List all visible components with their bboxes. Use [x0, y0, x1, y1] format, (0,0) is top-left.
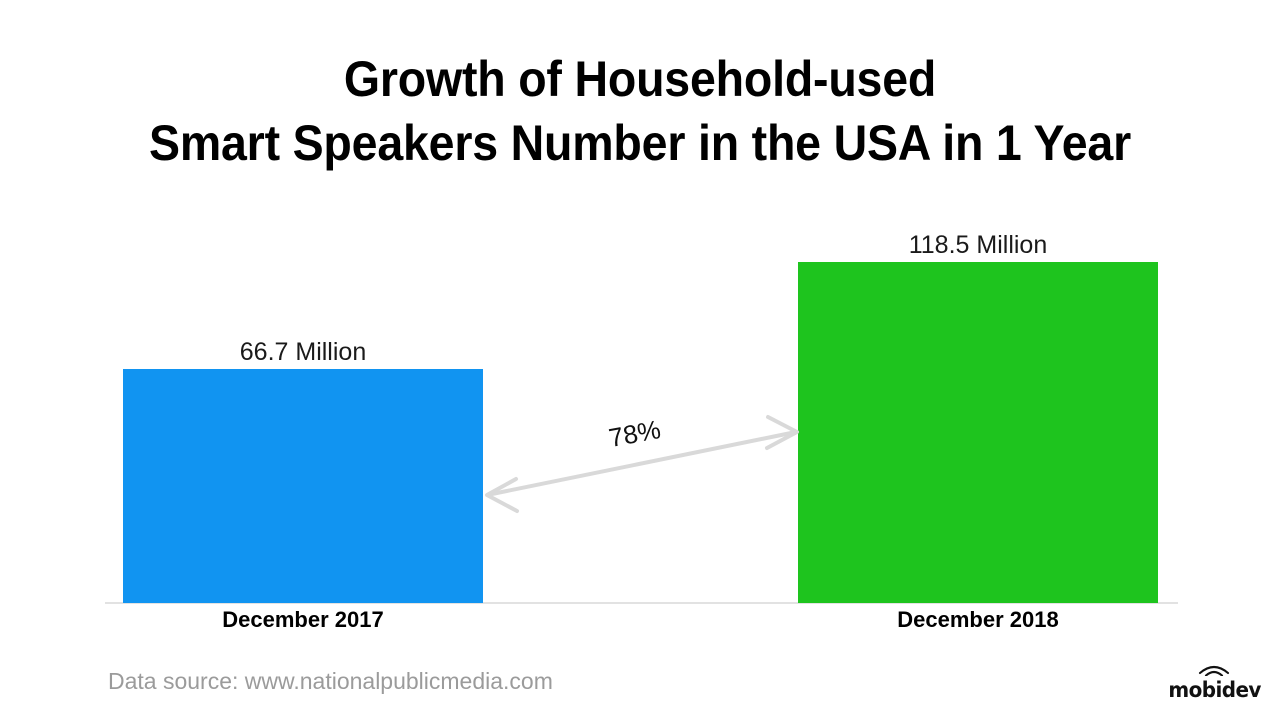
growth-percentage-label: 78%	[606, 414, 663, 454]
bar-december-2017[interactable]	[123, 369, 483, 603]
bar-december-2018[interactable]	[798, 262, 1158, 603]
mobidev-logo: mobidev	[1166, 662, 1262, 704]
data-source-caption: Data source: www.nationalpublicmedia.com	[108, 668, 553, 695]
mobidev-wordmark: mobidev	[1168, 678, 1259, 702]
signal-arc-icon	[1196, 662, 1232, 676]
bar-chart: 66.7 Million 118.5 Million December 2017…	[0, 0, 1280, 720]
bar-value-label-december-2018: 118.5 Million	[798, 231, 1158, 260]
x-axis-label-december-2018: December 2018	[798, 607, 1158, 633]
x-axis-label-december-2017: December 2017	[123, 607, 483, 633]
slide-canvas: Growth of Household-used Smart Speakers …	[0, 0, 1280, 720]
bar-value-label-december-2017: 66.7 Million	[123, 338, 483, 367]
